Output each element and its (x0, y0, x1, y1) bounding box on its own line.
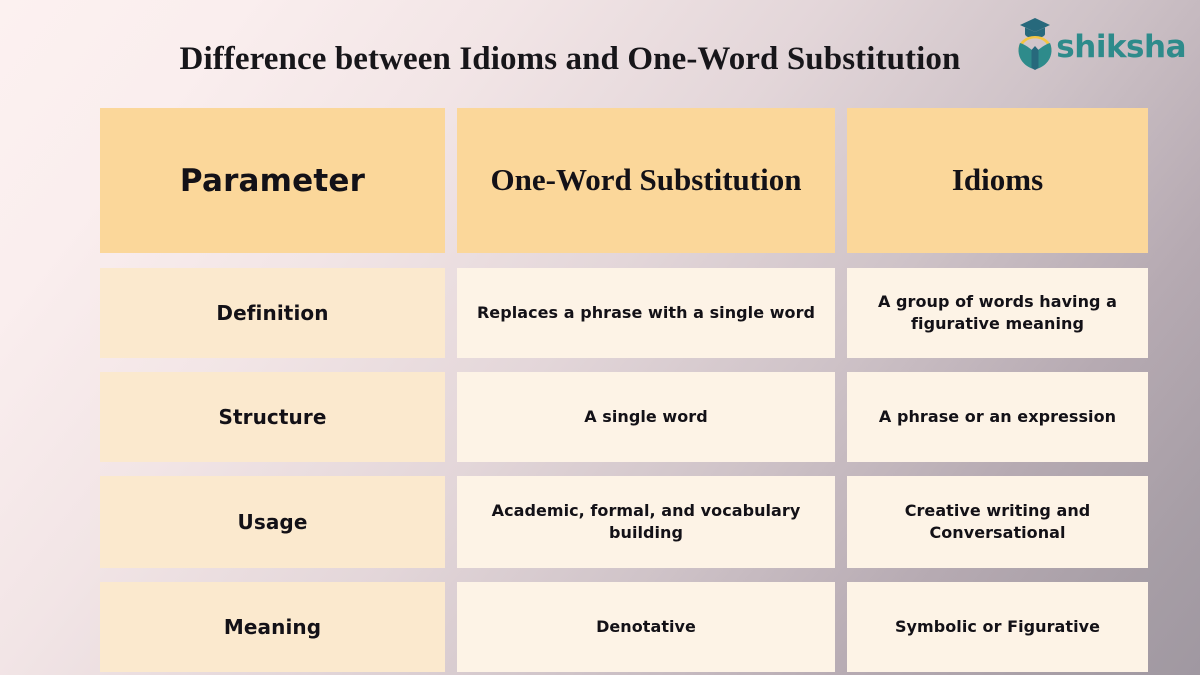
table-header-parameter: Parameter (100, 108, 445, 253)
table-row: Structure A single word A phrase or an e… (100, 372, 1148, 462)
row-one-word-substitution-value: Denotative (457, 582, 835, 672)
table-header-one-word-substitution: One-Word Substitution (457, 108, 835, 253)
infographic-canvas: shiksha Difference between Idioms and On… (0, 0, 1200, 675)
row-idioms-value: Symbolic or Figurative (847, 582, 1148, 672)
page-title: Difference between Idioms and One-Word S… (0, 40, 1140, 80)
row-one-word-substitution-value: Replaces a phrase with a single word (457, 268, 835, 358)
comparison-table: Parameter One-Word Substitution Idioms D… (100, 108, 1148, 672)
table-row: Definition Replaces a phrase with a sing… (100, 268, 1148, 358)
row-one-word-substitution-value: Academic, formal, and vocabulary buildin… (457, 476, 835, 568)
table-header-row: Parameter One-Word Substitution Idioms (100, 108, 1148, 253)
row-idioms-value: A group of words having a figurative mea… (847, 268, 1148, 358)
row-parameter-label: Meaning (100, 582, 445, 672)
row-idioms-value: Creative writing and Conversational (847, 476, 1148, 568)
table-row: Usage Academic, formal, and vocabulary b… (100, 476, 1148, 568)
row-parameter-label: Definition (100, 268, 445, 358)
row-one-word-substitution-value: A single word (457, 372, 835, 462)
table-row: Meaning Denotative Symbolic or Figurativ… (100, 582, 1148, 672)
row-parameter-label: Structure (100, 372, 445, 462)
row-parameter-label: Usage (100, 476, 445, 568)
row-idioms-value: A phrase or an expression (847, 372, 1148, 462)
table-header-idioms: Idioms (847, 108, 1148, 253)
